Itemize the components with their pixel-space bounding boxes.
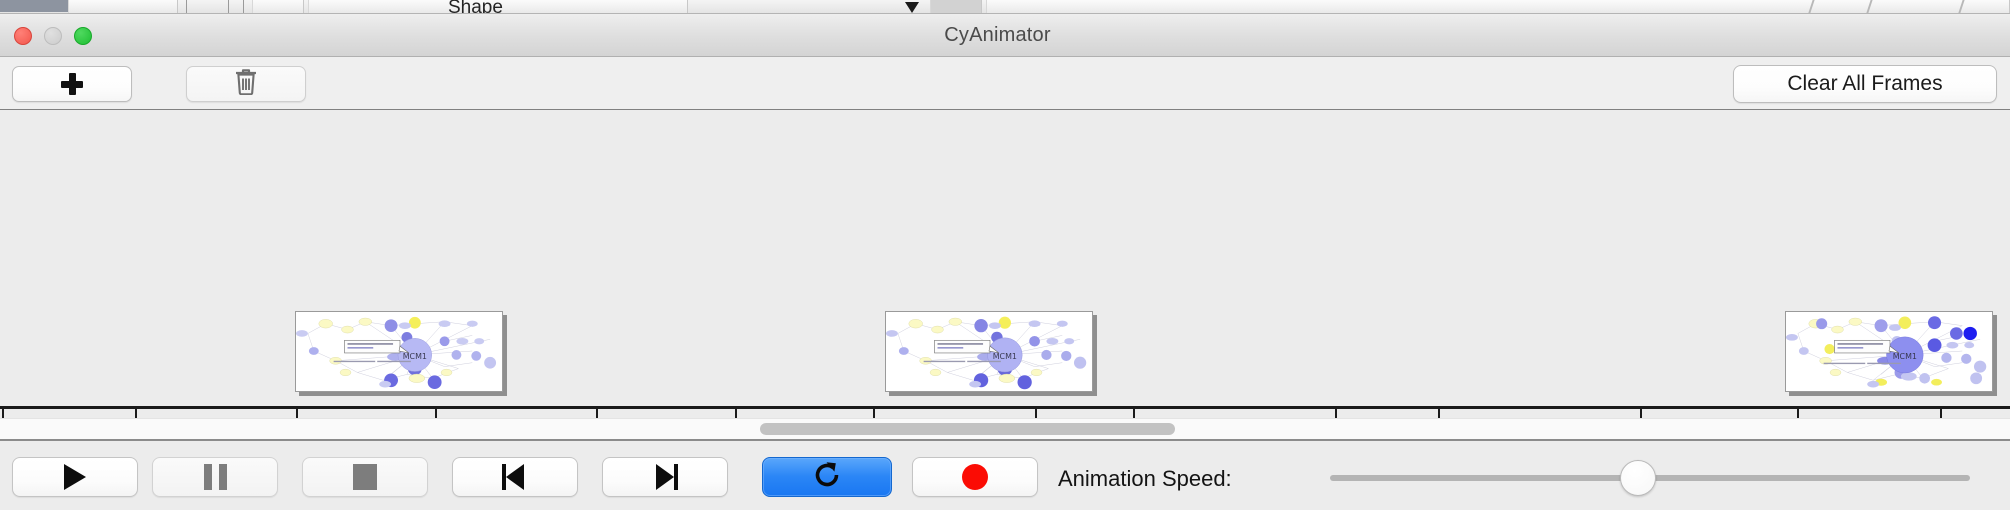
timeline-panel[interactable]: MCM1 (0, 110, 2010, 439)
background-window-panel (930, 0, 982, 14)
titlebar: CyAnimator (0, 14, 2010, 57)
background-window-divider (243, 0, 244, 14)
horizontal-scrollbar-thumb[interactable] (760, 423, 1175, 435)
background-window-label: Shape (448, 0, 503, 14)
background-window-arrow-icon (905, 2, 919, 13)
toolbar: Clear All Frames (0, 57, 2010, 110)
loop-icon (812, 460, 842, 495)
animation-speed-label: Animation Speed: (1058, 466, 1232, 492)
frame-thumbnail[interactable]: MCM1 (295, 311, 503, 392)
clear-all-frames-button[interactable]: Clear All Frames (1733, 65, 1997, 103)
pause-button[interactable] (152, 457, 278, 497)
animation-speed-slider[interactable] (1330, 475, 1970, 481)
hub-node-label: MCM1 (993, 352, 1017, 361)
loop-button[interactable] (762, 457, 892, 497)
skip-previous-button[interactable] (452, 457, 578, 497)
background-window-sidebar (0, 0, 68, 12)
background-window-divider (228, 0, 229, 14)
add-frame-button[interactable] (12, 66, 132, 102)
network-graph-preview: MCM1 (296, 312, 502, 391)
hub-node-label: MCM1 (403, 352, 427, 361)
record-button[interactable] (912, 457, 1038, 497)
horizontal-scrollbar[interactable] (0, 418, 2010, 439)
background-window: Shape (0, 0, 2010, 14)
animation-speed-slider-thumb[interactable] (1620, 460, 1656, 496)
network-graph-preview: MCM1 (1786, 312, 1992, 391)
cyanimator-window: CyAnimator Clear All Frames (0, 14, 2010, 510)
background-window-divider (186, 0, 187, 14)
play-button[interactable] (12, 457, 138, 497)
record-icon (962, 464, 988, 490)
timeline-ruler[interactable] (0, 406, 2010, 409)
clear-all-frames-label: Clear All Frames (1787, 72, 1942, 96)
frame-thumbnail[interactable]: MCM1 (1785, 311, 1993, 392)
trash-icon (234, 68, 258, 100)
plus-icon (61, 73, 83, 95)
play-icon (64, 464, 86, 490)
background-window-panel (252, 0, 304, 14)
hub-node-label: MCM1 (1893, 352, 1917, 361)
stop-icon (353, 464, 377, 490)
page-title: CyAnimator (0, 24, 2010, 47)
pause-icon (204, 464, 227, 490)
playback-control-bar: Animation Speed: (0, 439, 2010, 510)
frame-thumbnail[interactable]: MCM1 (885, 311, 1093, 392)
skip-previous-icon (502, 464, 528, 490)
background-window-panel (986, 0, 2010, 14)
delete-frame-button[interactable] (186, 66, 306, 102)
skip-next-button[interactable] (602, 457, 728, 497)
stop-button[interactable] (302, 457, 428, 497)
network-graph-preview: MCM1 (886, 312, 1092, 391)
background-window-panel (68, 0, 178, 14)
skip-next-icon (652, 464, 678, 490)
